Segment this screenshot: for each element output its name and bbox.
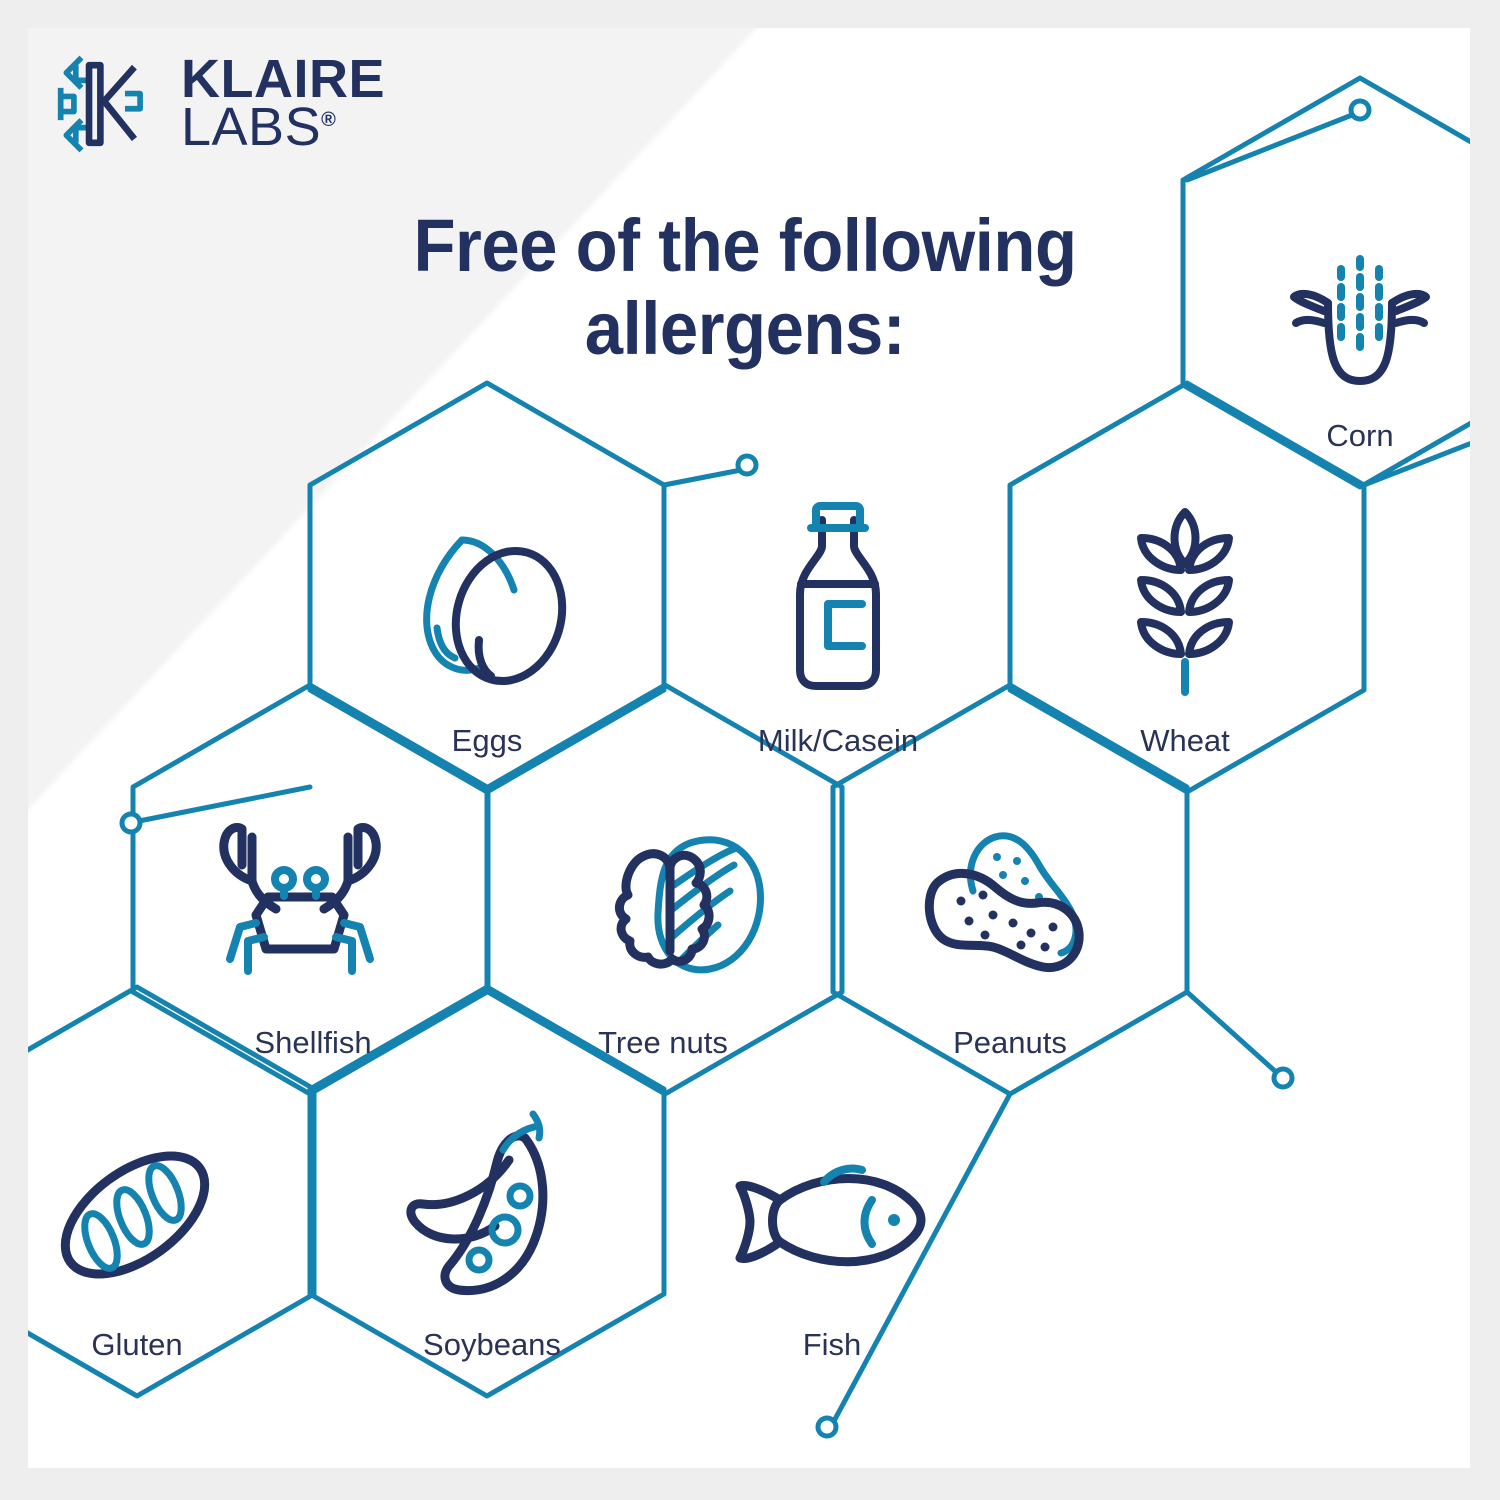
node-peanuts-right xyxy=(1274,1069,1292,1087)
allergen-label-corn: Corn xyxy=(1326,418,1393,453)
node-eggs-right xyxy=(738,456,756,474)
wheat-icon xyxy=(1141,512,1229,692)
walnut-almond-icon xyxy=(619,840,760,970)
allergen-label-fish: Fish xyxy=(803,1327,862,1362)
allergen-label-treenuts: Tree nuts xyxy=(598,1025,728,1060)
fish-icon xyxy=(740,1169,921,1262)
brand-line-2: LABS® xyxy=(181,104,385,152)
brand-wordmark: KLAIRE LABS® xyxy=(181,56,385,151)
node-top-right xyxy=(1351,101,1369,119)
title-line-2: allergens: xyxy=(359,288,1131,371)
brand-logo: KLAIRE LABS® xyxy=(55,52,385,156)
allergen-label-eggs: Eggs xyxy=(452,723,523,758)
allergen-label-gluten: Gluten xyxy=(91,1327,182,1362)
allergen-label-wheat: Wheat xyxy=(1140,723,1230,758)
allergen-label-soybeans: Soybeans xyxy=(423,1327,561,1362)
page-title: Free of the following allergens: xyxy=(359,205,1131,371)
registered-mark: ® xyxy=(321,109,336,131)
allergen-label-milk: Milk/Casein xyxy=(758,723,918,758)
allergen-label-peanuts: Peanuts xyxy=(953,1025,1067,1060)
soy-pod-icon xyxy=(411,1114,543,1291)
allergen-label-shellfish: Shellfish xyxy=(254,1025,371,1060)
milk-bottle-icon xyxy=(800,506,876,686)
title-line-1: Free of the following xyxy=(359,205,1131,288)
peanut-icon xyxy=(929,836,1079,968)
klaire-k-snowflake-logo xyxy=(55,52,159,156)
node-left xyxy=(122,814,140,832)
node-bottom xyxy=(818,1418,836,1436)
crab-icon xyxy=(224,828,376,971)
grain-loaf-icon xyxy=(44,1132,225,1297)
eggs-icon xyxy=(427,538,578,694)
corn-icon xyxy=(1294,259,1426,381)
infographic-root: Corn Eggs Milk xyxy=(0,0,1500,1500)
